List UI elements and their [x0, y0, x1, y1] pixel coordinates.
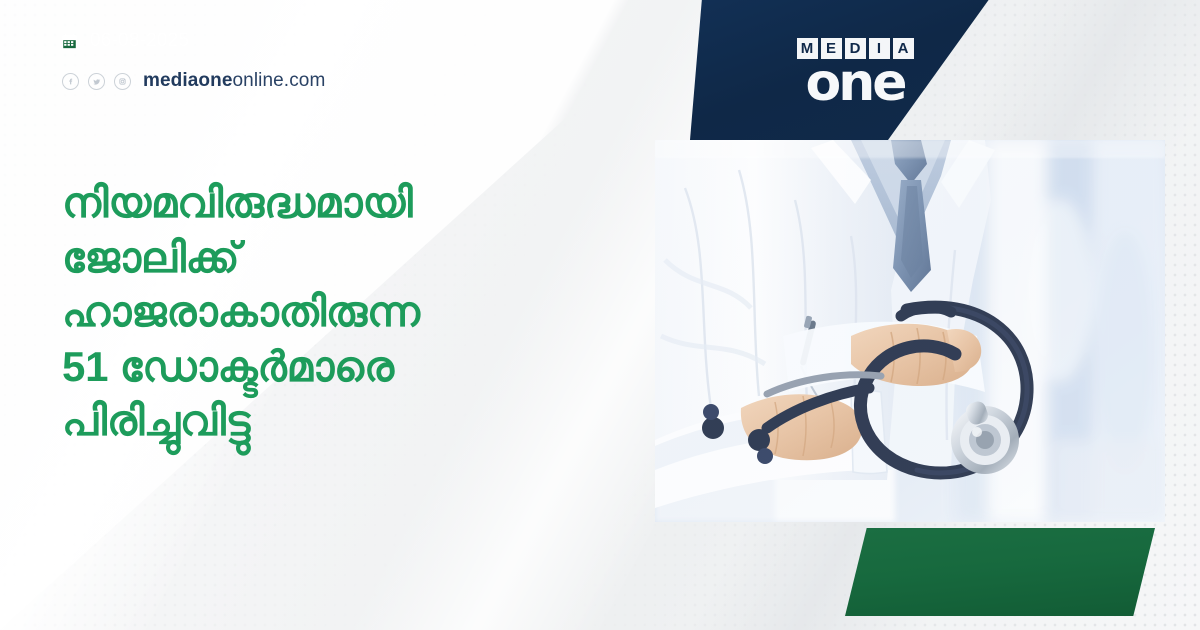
date-ribbon	[845, 528, 1155, 616]
site-handle[interactable]: mediaoneonline.com	[62, 70, 325, 92]
mediaone-logo[interactable]: M E D I A one	[780, 38, 930, 108]
headline-line-3: ഹാജരാകാതിരുന്ന	[62, 285, 622, 340]
instagram-icon[interactable]	[114, 73, 131, 90]
facebook-icon[interactable]	[62, 73, 79, 90]
twitter-icon[interactable]	[88, 73, 105, 90]
headline-line-4: 51 ഡോക്ടർമാരെ	[62, 340, 622, 395]
site-handle-text: mediaoneonline.com	[143, 70, 325, 92]
headline: നിയമവിരുദ്ധമായി ജോലിക്ക് ഹാജരാകാതിരുന്ന …	[62, 176, 622, 449]
headline-line-1: നിയമവിരുദ്ധമായി	[62, 176, 622, 231]
site-handle-bold: mediaone	[143, 70, 233, 91]
calendar-icon	[60, 32, 79, 51]
date-group: 06-08-2025	[60, 30, 189, 52]
news-card: mediaoneonline.com M E D I A one നിയമവിര…	[0, 0, 1200, 630]
site-handle-rest: online.com	[233, 70, 326, 91]
headline-line-2: ജോലിക്ക്	[62, 231, 622, 286]
doctor-stethoscope-photo	[655, 140, 1165, 522]
logo-one-word: one	[805, 60, 904, 108]
headline-line-5: പിരിച്ചുവിട്ടു	[62, 394, 622, 449]
publish-date: 06-08-2025	[90, 30, 189, 52]
